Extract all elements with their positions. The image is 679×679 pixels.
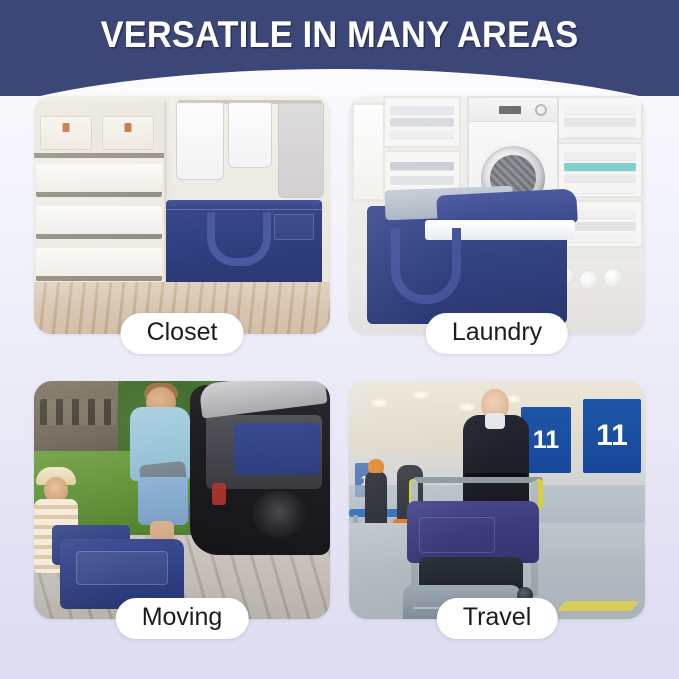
storage-bag-navy (234, 423, 320, 475)
bag-clear-window (76, 551, 168, 585)
washer-control-panel (469, 98, 557, 122)
folded-towel (564, 174, 636, 182)
panel-label-laundry: Laundry (426, 313, 568, 354)
washer-display (499, 106, 521, 114)
folded-towel (564, 152, 636, 160)
panel-label-travel: Travel (437, 598, 558, 639)
panel-travel[interactable]: 11 11 11 12 (349, 381, 645, 619)
closet-photo (34, 96, 330, 334)
rolled-towel (603, 268, 623, 288)
storage-bag-navy (166, 200, 322, 286)
folded-towel (564, 106, 636, 114)
floor-marking (557, 601, 639, 611)
folded-towel (564, 118, 636, 126)
taillight-icon (212, 483, 226, 505)
folded-linen (390, 162, 454, 170)
ceiling-light-icon (459, 403, 475, 411)
storage-bag-navy (367, 206, 567, 324)
laundry-shelf (383, 96, 461, 148)
closet-top-shelf (34, 102, 164, 158)
closet-dresser (34, 102, 167, 290)
garment-bag-icon (176, 102, 224, 180)
travel-photo: 11 11 11 12 (349, 381, 645, 619)
header-banner: VERSATILE IN MANY AREAS (0, 0, 679, 96)
bin-label-tab-icon (63, 123, 70, 132)
bin-label-tab-icon (125, 123, 132, 132)
page-title: VERSATILE IN MANY AREAS (24, 0, 655, 70)
laundry-photo (349, 96, 645, 334)
folded-linen (390, 130, 454, 138)
folded-linen (390, 176, 454, 184)
cart-handle (413, 477, 543, 483)
dresser-drawer (36, 206, 162, 239)
garment-bag-icon (278, 102, 324, 198)
moving-photo (34, 381, 330, 619)
panel-label-closet: Closet (121, 313, 244, 354)
panel-label-moving: Moving (116, 598, 249, 639)
gate-sign-11: 11 (583, 399, 641, 473)
bag-handle-icon (391, 228, 461, 304)
washer-knob-icon (535, 104, 547, 116)
car-wheel (252, 491, 306, 537)
folded-towel (564, 185, 636, 193)
storage-bag-navy (407, 501, 539, 563)
bag-pocket-icon (274, 214, 314, 240)
woman-collar (485, 413, 505, 429)
panel-closet[interactable]: Closet (34, 96, 330, 334)
woman-coat (463, 415, 529, 511)
ceiling-light-icon (413, 391, 429, 399)
folded-towel (564, 129, 636, 137)
garment-bag-icon (228, 102, 272, 168)
panel-moving[interactable]: Moving (34, 381, 330, 619)
ceiling-light-icon (371, 399, 387, 407)
storage-bin-icon (102, 116, 154, 150)
rolled-towel (579, 270, 599, 290)
panel-grid: Closet (34, 96, 645, 641)
dresser-drawer (36, 248, 162, 281)
panel-laundry[interactable]: Laundry (349, 96, 645, 334)
storage-bin-icon (40, 116, 92, 150)
bag-handle-icon (207, 212, 271, 266)
folded-linen (390, 106, 454, 114)
folded-linen (390, 118, 454, 126)
folded-towel-teal (564, 163, 636, 171)
laundry-shelf (557, 96, 643, 140)
man-shorts (138, 477, 188, 525)
dresser-drawer (36, 164, 162, 197)
laundry-shelf (557, 142, 643, 198)
